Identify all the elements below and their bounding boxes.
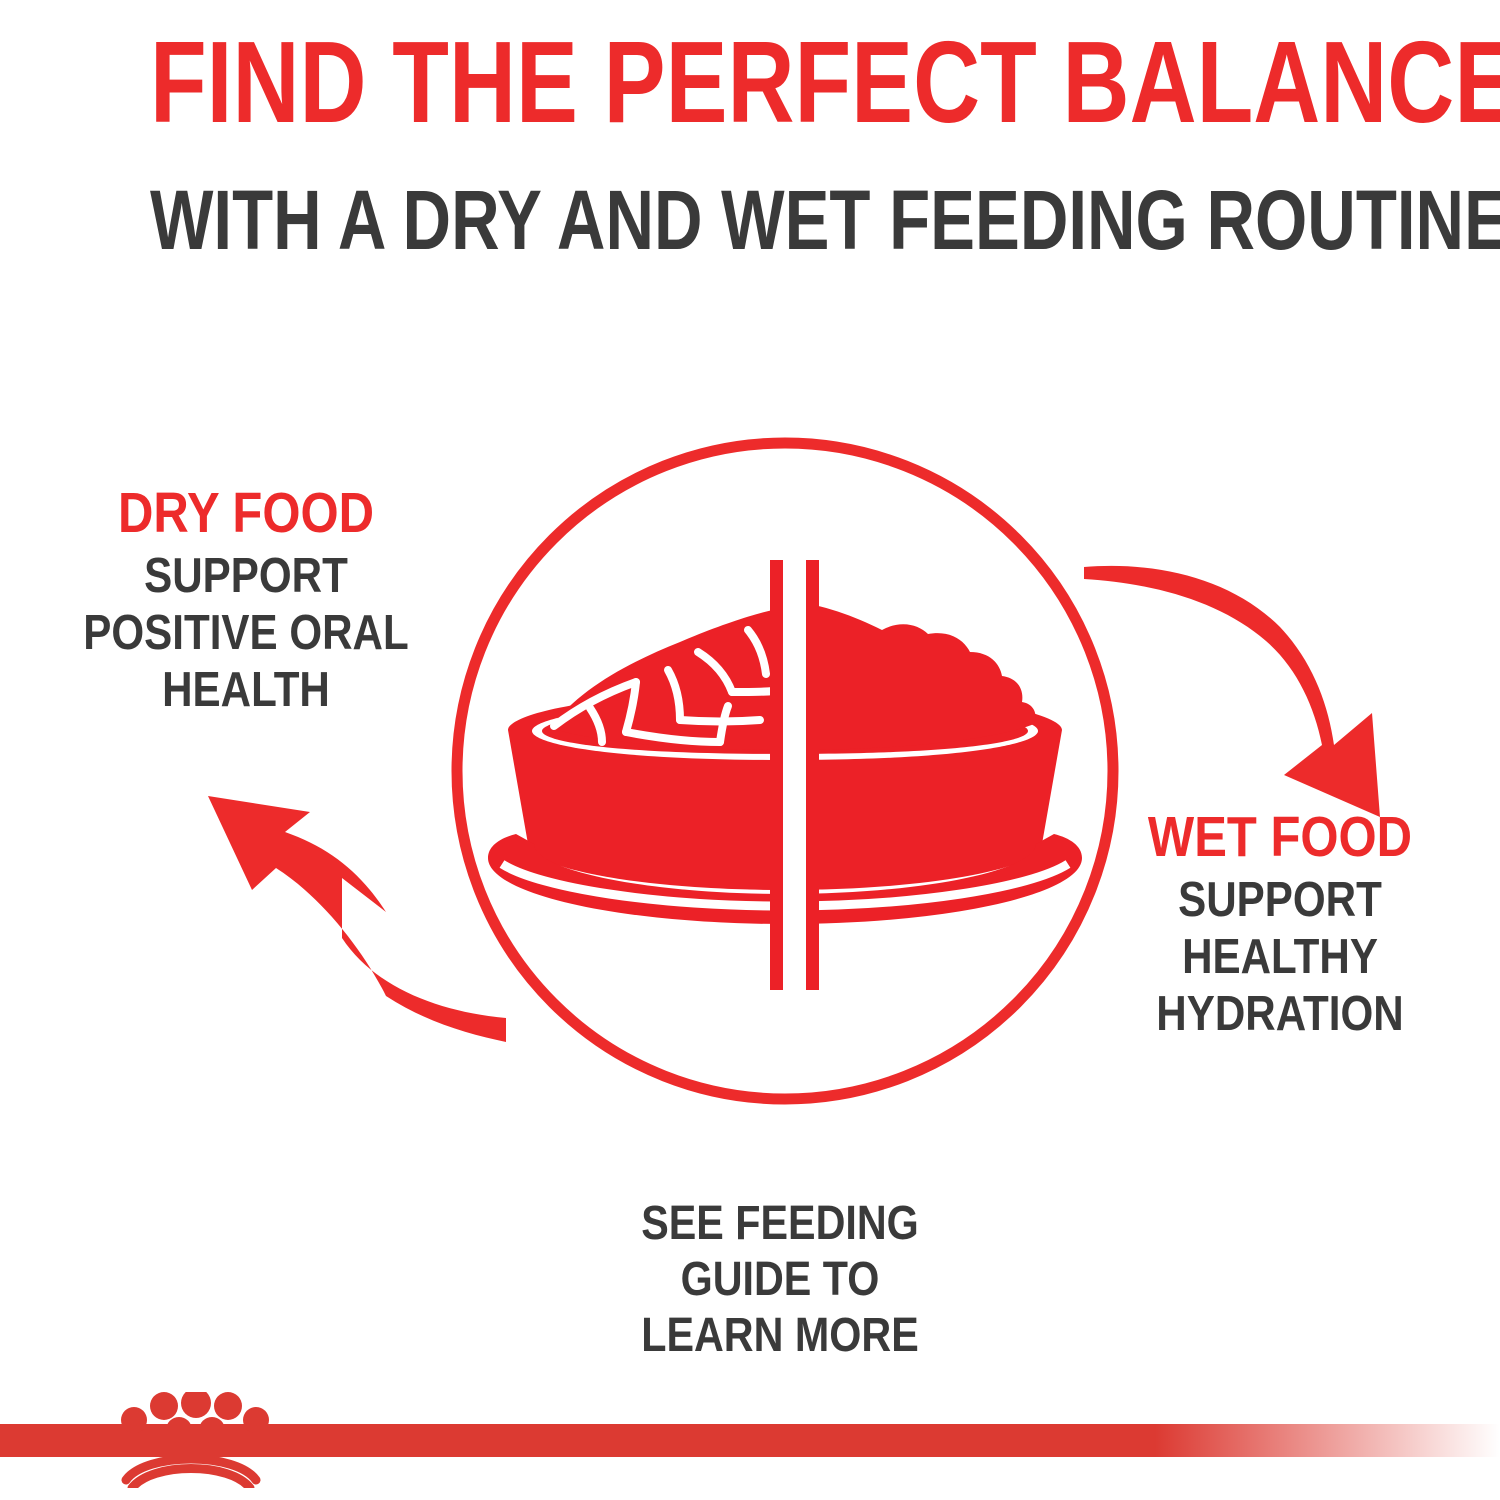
- dry-food-description: SUPPORT POSITIVE ORAL HEALTH: [65, 548, 426, 718]
- royal-canin-crown-logo: [104, 1392, 279, 1488]
- cta-line-2: GUIDE TO: [488, 1252, 1073, 1308]
- infographic-page: FIND THE PERFECT BALANCE WITH A DRY AND …: [0, 0, 1500, 1500]
- footer-bar-right: [268, 1424, 1500, 1457]
- feeding-bowl: [488, 552, 1082, 998]
- cta-line-1: SEE FEEDING: [488, 1196, 1073, 1252]
- wet-food-mound: [792, 602, 1036, 750]
- cta-text: SEE FEEDING GUIDE TO LEARN MORE: [488, 1196, 1073, 1364]
- divider-line-right: [806, 560, 819, 990]
- dry-food-title: DRY FOOD: [65, 484, 426, 542]
- dry-food-line-3: HEALTH: [65, 662, 426, 719]
- divider-gap: [783, 552, 806, 998]
- dry-food-line-1: SUPPORT: [65, 548, 426, 605]
- dry-kibble-mound: [550, 608, 782, 750]
- cta-line-3: LEARN MORE: [488, 1308, 1073, 1364]
- dry-food-block: DRY FOOD SUPPORT POSITIVE ORAL HEALTH: [36, 484, 456, 719]
- dry-food-line-2: POSITIVE ORAL: [65, 605, 426, 662]
- page-subtitle: WITH A DRY AND WET FEEDING ROUTINE: [150, 178, 1350, 262]
- divider-line-left: [770, 560, 783, 990]
- split-bowl-illustration: [430, 420, 1150, 1120]
- page-title: FIND THE PERFECT BALANCE: [150, 24, 1350, 140]
